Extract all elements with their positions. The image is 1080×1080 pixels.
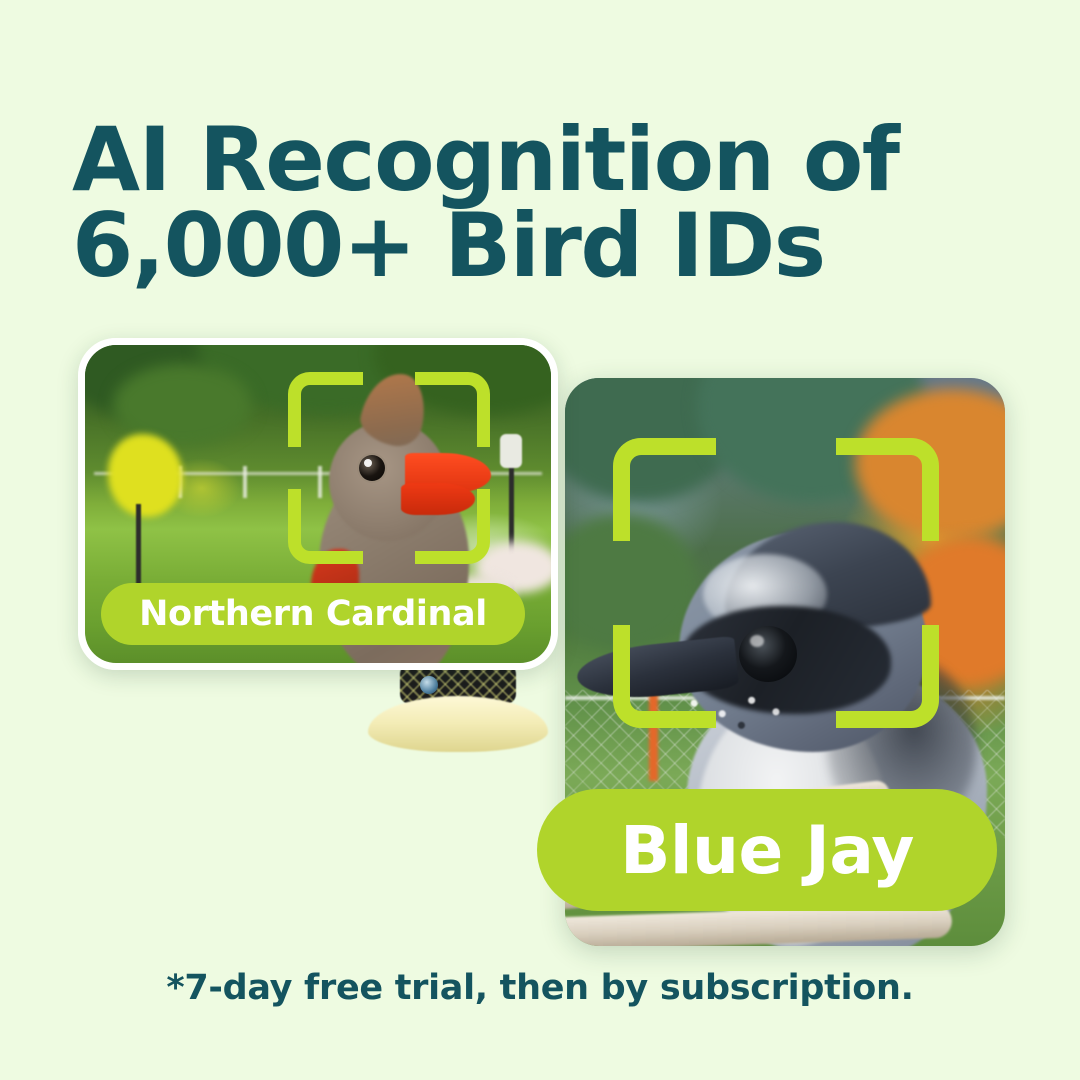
bluejay-eye (739, 626, 797, 682)
species-badge-label: Blue Jay (620, 812, 914, 889)
footnote-text: *7-day free trial, then by subscription. (0, 968, 1080, 1008)
bird-photo-stack: Northern Cardinal Blue Jay (0, 0, 1080, 1080)
species-badge-bluejay[interactable]: Blue Jay (537, 789, 997, 911)
species-badge-cardinal[interactable]: Northern Cardinal (101, 583, 525, 645)
cardinal-eye (359, 455, 385, 481)
promo-page: AI Recognition of 6,000+ Bird IDs (0, 0, 1080, 1080)
species-badge-label: Northern Cardinal (139, 594, 487, 634)
